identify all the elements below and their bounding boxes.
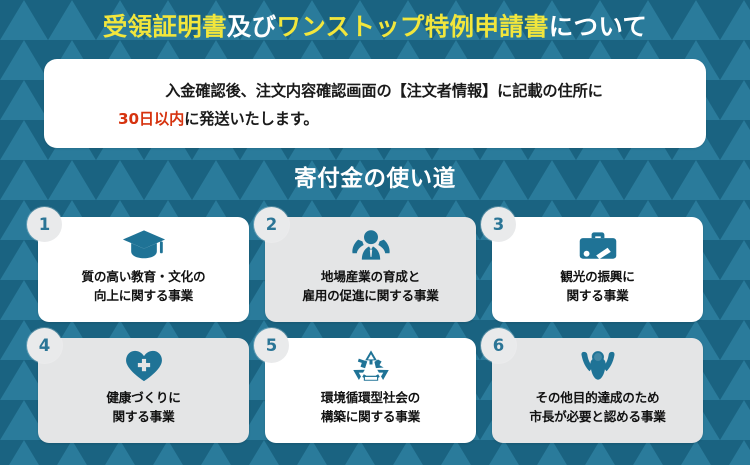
person-in-hands-icon	[492, 345, 703, 387]
page-title-segment-1: 受領証明書	[103, 12, 227, 41]
notice-line-1: 入金確認後、注文内容確認画面の【注文者情報】に記載の住所に	[62, 77, 706, 105]
card-label: 地場産業の育成と 雇用の促進に関する事業	[265, 267, 476, 305]
card-label-line-2: 構築に関する事業	[265, 407, 476, 426]
card-label-line-2: 向上に関する事業	[38, 286, 249, 305]
suitcase-icon	[492, 224, 703, 266]
card-label-line-1: 質の高い教育・文化の	[38, 267, 249, 286]
page-title-segment-4: について	[549, 12, 647, 41]
heart-plus-icon	[38, 345, 249, 387]
page-title: 受領証明書及びワンストップ特例申請書について	[0, 11, 750, 43]
notice-line-2: 30日以内に発送いたします。	[62, 105, 706, 133]
notice-text: 入金確認後、注文内容確認画面の【注文者情報】に記載の住所に 30日以内に発送いた…	[44, 77, 706, 133]
card-label: 観光の振興に 関する事業	[492, 267, 703, 305]
usage-card-2[interactable]: 2 地場産業の育成と 雇用の促進に関する事業	[265, 217, 476, 322]
usage-card-6[interactable]: 6 その他目的達成のため 市長が必要と認める事業	[492, 338, 703, 443]
card-label-line-1: その他目的達成のため	[492, 388, 703, 407]
usage-card-1[interactable]: 1 質の高い教育・文化の 向上に関する事業	[38, 217, 249, 322]
section-heading: 寄付金の使い道	[0, 164, 750, 194]
card-label-line-1: 環境循環型社会の	[265, 388, 476, 407]
person-arms-raised-icon	[265, 224, 476, 266]
usage-card-grid: 1 質の高い教育・文化の 向上に関する事業 2	[38, 217, 712, 445]
card-label-line-2: 関する事業	[492, 286, 703, 305]
card-label-line-2: 雇用の促進に関する事業	[265, 286, 476, 305]
usage-card-3[interactable]: 3 観光の振興に 関する事業	[492, 217, 703, 322]
page-title-segment-3: ワンストップ特例申請書	[276, 12, 548, 41]
card-label-line-1: 観光の振興に	[492, 267, 703, 286]
card-label: その他目的達成のため 市長が必要と認める事業	[492, 388, 703, 426]
usage-card-5[interactable]: 5 環境循環型社会	[265, 338, 476, 443]
infographic-canvas: 受領証明書及びワンストップ特例申請書について 入金確認後、注文内容確認画面の【注…	[0, 0, 750, 465]
notice-line-2-rest: に発送いたします。	[184, 110, 318, 128]
card-label-line-1: 健康づくりに	[38, 388, 249, 407]
card-label-line-1: 地場産業の育成と	[265, 267, 476, 286]
card-label-line-2: 関する事業	[38, 407, 249, 426]
page-title-segment-2: 及び	[227, 12, 277, 41]
card-label: 質の高い教育・文化の 向上に関する事業	[38, 267, 249, 305]
recycle-icon	[265, 345, 476, 387]
notice-highlight: 30日以内	[118, 110, 184, 128]
card-label-line-2: 市長が必要と認める事業	[492, 407, 703, 426]
usage-card-4[interactable]: 4 健康づくりに 関する事業	[38, 338, 249, 443]
graduation-cap-icon	[38, 224, 249, 266]
card-label: 健康づくりに 関する事業	[38, 388, 249, 426]
card-label: 環境循環型社会の 構築に関する事業	[265, 388, 476, 426]
notice-card: 入金確認後、注文内容確認画面の【注文者情報】に記載の住所に 30日以内に発送いた…	[44, 59, 706, 148]
